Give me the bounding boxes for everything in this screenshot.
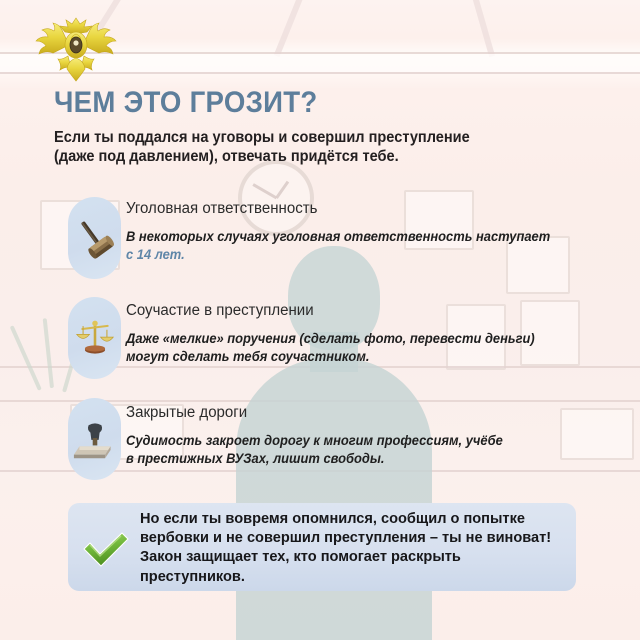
poster-canvas: ЧЕМ ЭТО ГРОЗИТ? Если ты поддался на угов… (0, 0, 640, 640)
intro-line-1: Если ты поддался на уговоры и совершил п… (54, 128, 470, 147)
plant-leaf (43, 318, 54, 388)
item-desc-line: могут сделать тебя соучастником. (126, 348, 535, 366)
item-heading: Соучастие в преступлении (126, 302, 314, 320)
rubber-stamp-icon (68, 398, 121, 480)
item-desc-line: Судимость закроет дорогу к многим профес… (126, 432, 503, 450)
callout-line-4: преступников. (140, 567, 551, 586)
item-desc-line: в престижных ВУЗах, лишит свободы. (126, 450, 503, 468)
page-title: ЧЕМ ЭТО ГРОЗИТ? (54, 86, 318, 120)
intro-line-2: (даже под давлением), отвечать придётся … (54, 147, 470, 166)
silhouette-shoulders (236, 358, 432, 640)
intro-paragraph: Если ты поддался на уговоры и совершил п… (54, 128, 470, 166)
icon-badge (68, 398, 121, 480)
callout-line-1: Но если ты вовремя опомнился, сообщил о … (140, 509, 551, 528)
gavel-icon (68, 197, 121, 279)
item-desc-line: В некоторых случаях уголовная ответствен… (126, 228, 550, 246)
item-heading: Закрытые дороги (126, 404, 247, 422)
item-heading: Уголовная ответственность (126, 200, 317, 218)
item-desc-highlight: с 14 лет. (126, 246, 550, 264)
bench-panel (560, 408, 634, 460)
scales-of-justice-icon (68, 297, 121, 379)
wall-clock (238, 160, 314, 236)
icon-badge (68, 297, 121, 379)
callout-line-3: Закон защищает тех, кто помогает раскрыт… (140, 547, 551, 566)
mvd-eagle-emblem-icon (24, 14, 128, 86)
item-description: Даже «мелкие» поручения (сделать фото, п… (126, 330, 535, 366)
callout-line-2: вербовки и не совершил преступления – ты… (140, 528, 551, 547)
item-description: В некоторых случаях уголовная ответствен… (126, 228, 550, 264)
ceiling-beam (274, 0, 306, 57)
reassurance-callout: Но если ты вовремя опомнился, сообщил о … (68, 503, 576, 591)
ceiling-beam (470, 0, 495, 57)
item-description: Судимость закроет дорогу к многим профес… (126, 432, 503, 468)
icon-badge (68, 197, 121, 279)
green-check-icon (80, 529, 132, 571)
plant-leaf (10, 325, 42, 391)
item-desc-line: Даже «мелкие» поручения (сделать фото, п… (126, 330, 535, 348)
callout-paragraph: Но если ты вовремя опомнился, сообщил о … (140, 509, 551, 586)
